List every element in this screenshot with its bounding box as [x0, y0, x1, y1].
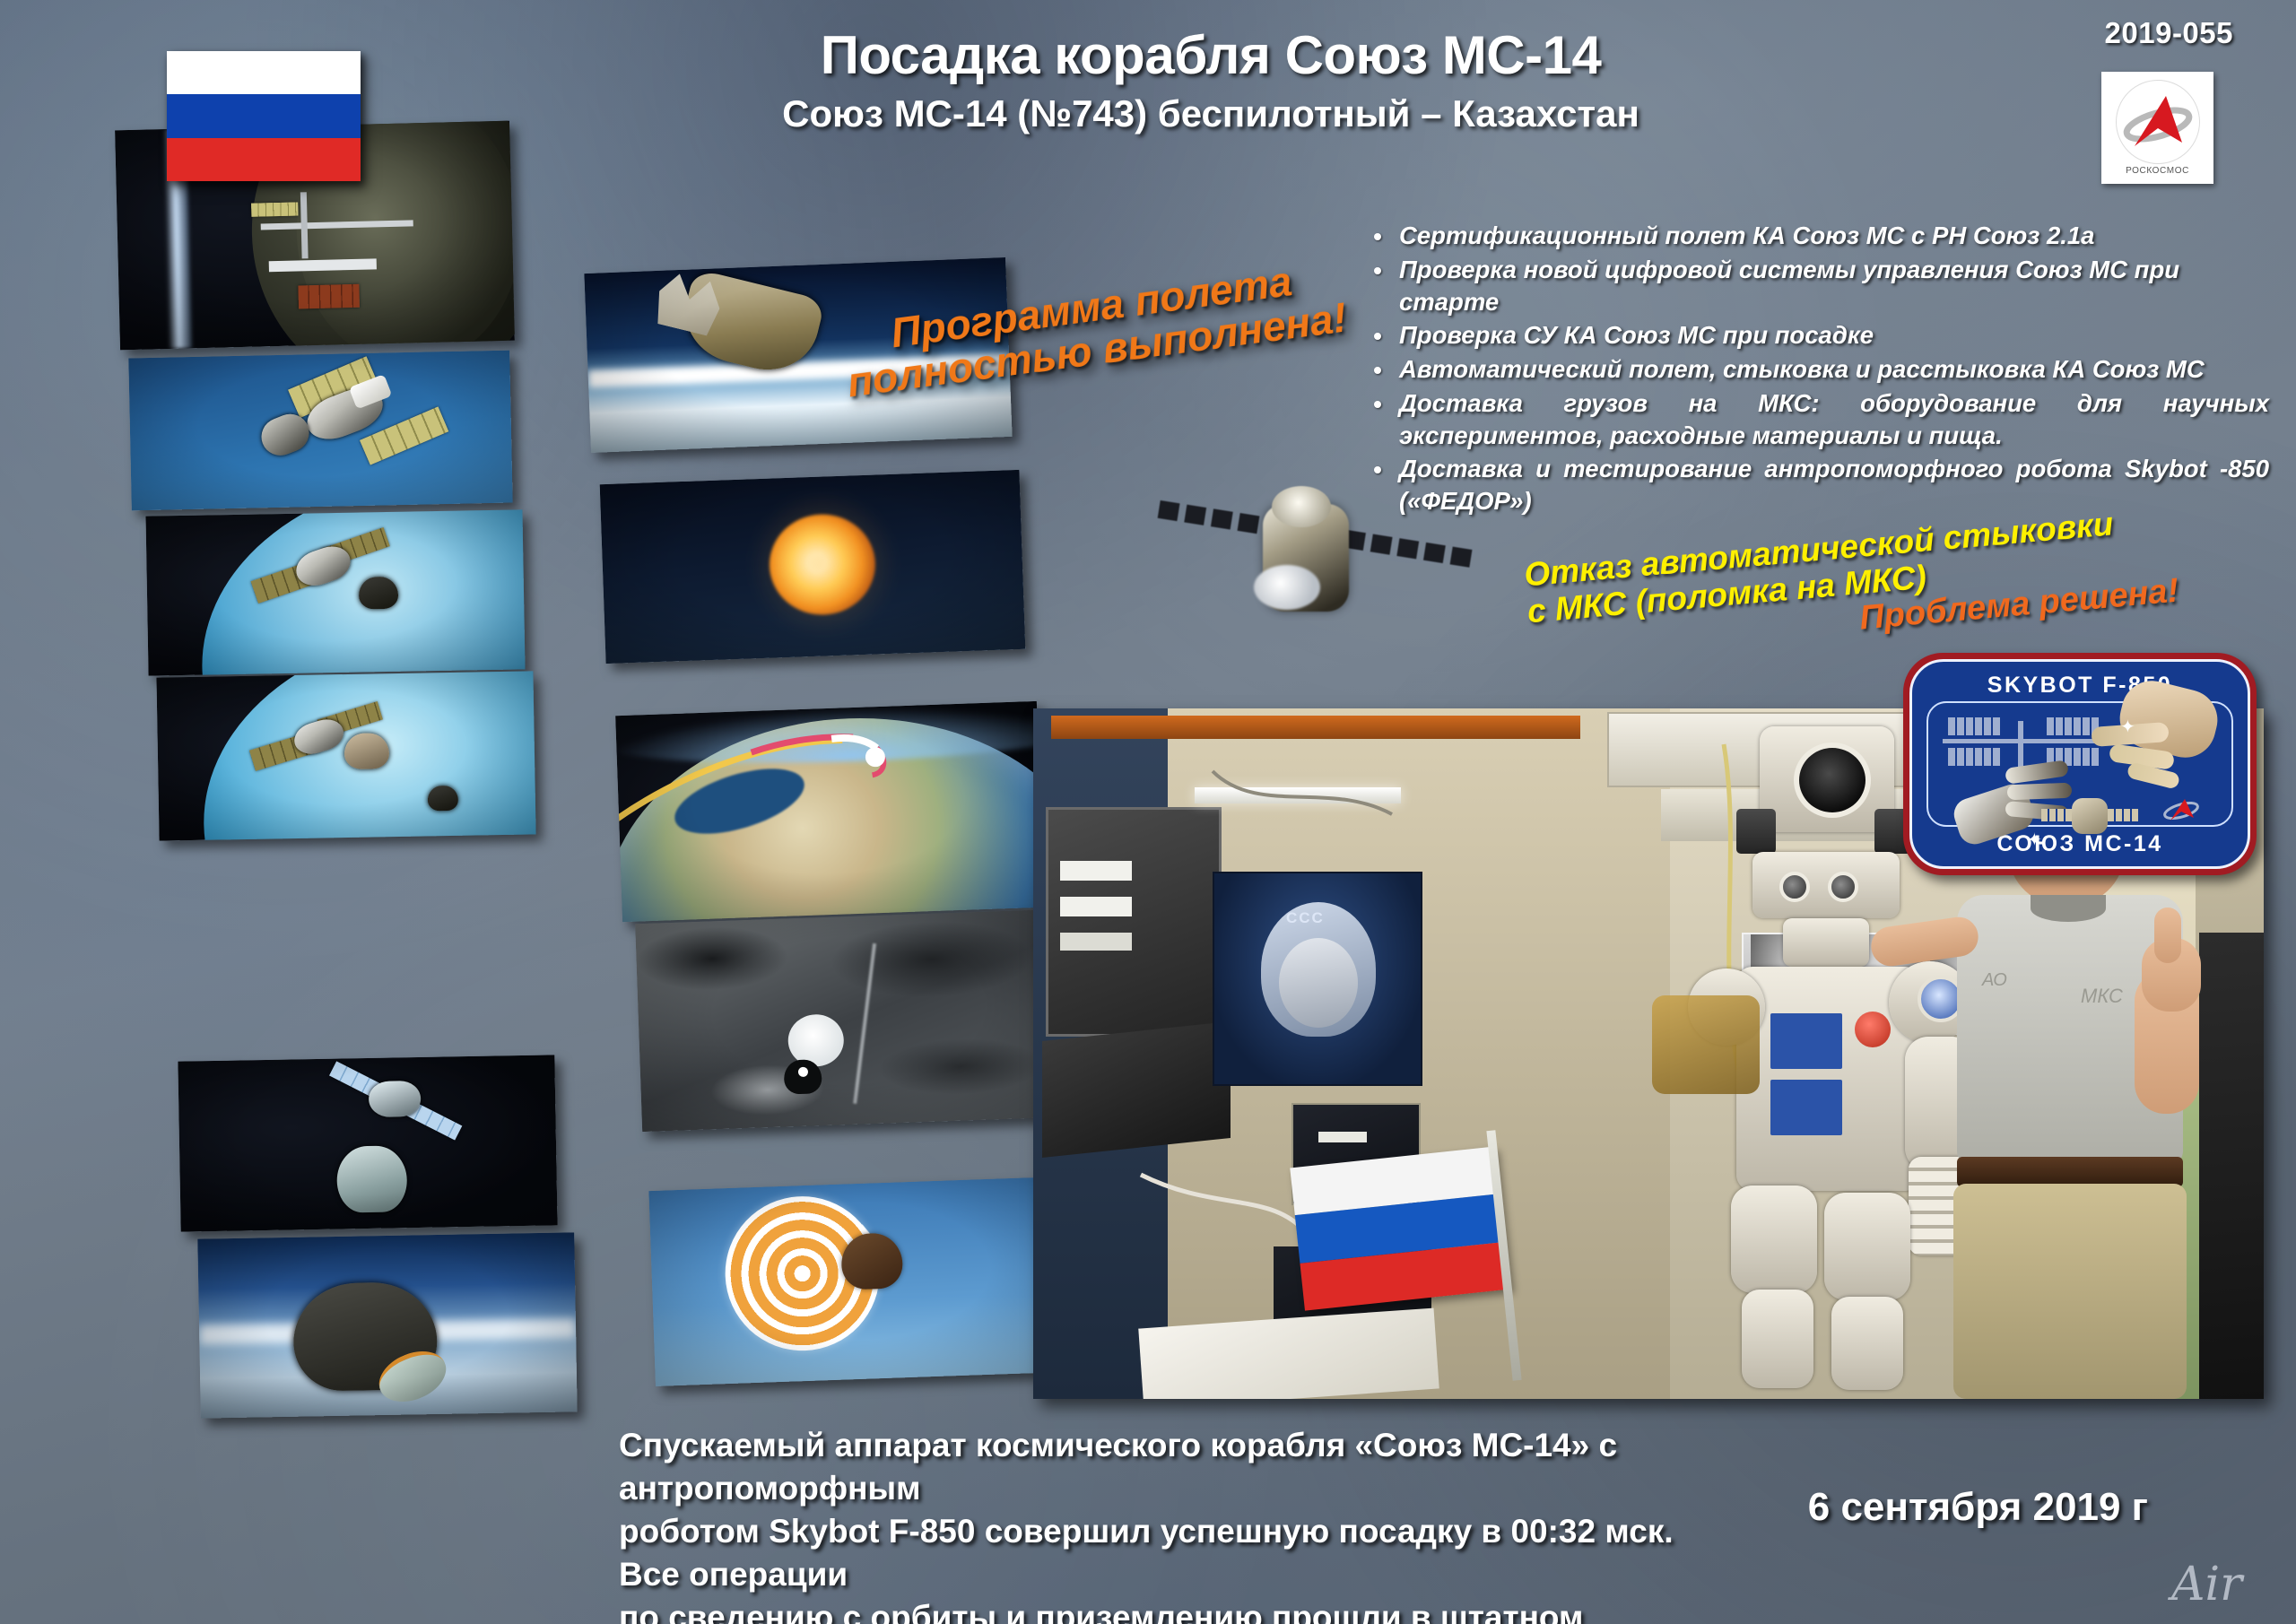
- onboard-russian-flag: [1290, 1146, 1509, 1310]
- page-title: Посадка корабля Союз МС-14: [682, 27, 1740, 83]
- patch-human-hand-icon: [2092, 685, 2217, 802]
- patch-soyuz-icon: [2041, 789, 2140, 848]
- author-signature: Air: [2171, 1558, 2242, 1611]
- russian-flag: [167, 51, 361, 181]
- roscosmos-arrow-icon: [2116, 80, 2200, 164]
- poster-root: ССС: [0, 0, 2296, 1624]
- caption-line-1: Спускаемый аппарат космического корабля …: [619, 1424, 1677, 1510]
- caption-line-3: по сведению с орбиты и приземлению прошл…: [619, 1596, 1677, 1624]
- photo-plasma-fireball: [600, 470, 1026, 664]
- photo-ir-landing: [635, 909, 1064, 1132]
- bottom-caption: Спускаемый аппарат космического корабля …: [619, 1424, 1677, 1624]
- list-item: Автоматический полет, стыковка и расстык…: [1363, 353, 2269, 386]
- photo-parachute: [648, 1177, 1067, 1386]
- list-item: Доставка грузов на МКС: оборудование для…: [1363, 387, 2269, 452]
- roscosmos-label: РОСКОСМОС: [2126, 166, 2189, 176]
- list-item: Проверка СУ КА Союз МС при посадке: [1363, 319, 2269, 352]
- caption-line-2: роботом Skybot F-850 совершил успешную п…: [619, 1510, 1677, 1596]
- flag-stripe-white: [167, 51, 361, 94]
- list-item: Проверка новой цифровой системы управлен…: [1363, 254, 2269, 318]
- photo-soyuz-undock-2: [156, 671, 535, 840]
- patch-roscosmos-icon: [2161, 796, 2201, 823]
- photo-trajectory-map: [615, 701, 1044, 922]
- photo-separation: [178, 1055, 557, 1231]
- flag-stripe-blue: [167, 94, 361, 137]
- page-subtitle: Союз МС-14 (№743) беспилотный – Казахста…: [682, 92, 1740, 135]
- title-block: Посадка корабля Союз МС-14 Союз МС-14 (№…: [682, 27, 1740, 135]
- list-item: Сертификационный полет КА Союз МС с РН С…: [1363, 220, 2269, 252]
- document-code: 2019-055: [2105, 16, 2233, 50]
- patch-star-icon: ✦: [2027, 829, 2042, 851]
- objectives-list: Сертификационный полет КА Союз МС с РН С…: [1363, 220, 2269, 519]
- photo-soyuz-undock-1: [145, 509, 525, 675]
- mission-patch-badge: SKYBOT F-850 СОЮЗ МС-14: [1903, 653, 2257, 875]
- photo-descent-module: [197, 1232, 577, 1418]
- date-stamp: 6 сентября 2019 г: [1808, 1485, 2148, 1530]
- photo-soyuz-approach: [128, 351, 512, 511]
- flag-stripe-red: [167, 138, 361, 181]
- roscosmos-logo: РОСКОСМОС: [2101, 72, 2213, 184]
- patch-star-icon: ✦: [2120, 716, 2135, 738]
